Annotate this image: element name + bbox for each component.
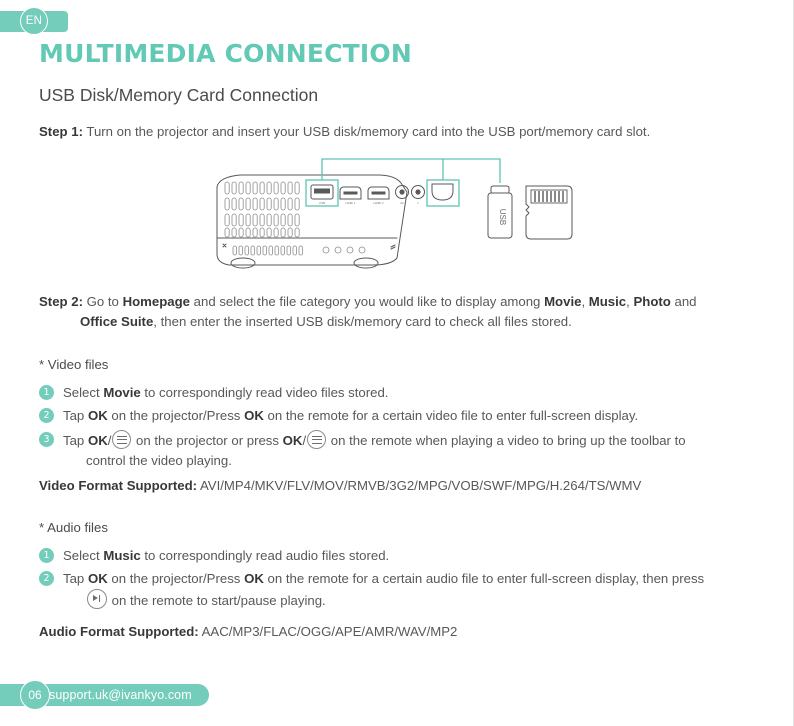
- step-2-text-c: and: [671, 294, 697, 309]
- list-number-badge: 2: [39, 571, 54, 586]
- svg-text:USB: USB: [319, 201, 325, 205]
- menu-icon: [112, 430, 131, 449]
- item-bold-term: Movie: [103, 385, 140, 400]
- item-bold-term: OK: [88, 571, 108, 586]
- step-2-text-b: and select the file category you would l…: [190, 294, 544, 309]
- video-format-value: AVI/MP4/MKV/FLV/MOV/RMVB/3G2/MPG/VOB/SWF…: [197, 478, 641, 493]
- item-text-pre: Select: [63, 548, 103, 563]
- usb-stick-label: USB: [498, 209, 507, 225]
- photo-term: Photo: [633, 294, 670, 309]
- item-bold-term: OK: [88, 408, 108, 423]
- audio-format-value: AAC/MP3/FLAC/OGG/APE/AMR/WAV/MP2: [199, 624, 458, 639]
- item-text-pre: Select: [63, 385, 103, 400]
- item-text-mid: on the projector/Press: [108, 571, 244, 586]
- item-text-pre: Tap: [63, 433, 88, 448]
- step-2-text-a: Go to: [83, 294, 123, 309]
- list-item: 2Tap OK on the projector/Press OK on the…: [39, 406, 754, 426]
- item-text-mid: on the projector/Press: [108, 408, 244, 423]
- slash-2: /: [302, 433, 306, 448]
- support-email[interactable]: support.uk@ivankyo.com: [49, 688, 192, 702]
- audio-files-heading: * Audio files: [39, 520, 108, 535]
- item-text-pre: Tap: [63, 408, 88, 423]
- connection-diagram: USB HDMI 1 HDMI 2 AV ♬ USB: [195, 150, 615, 280]
- step-1-paragraph: Step 1: Turn on the projector and insert…: [39, 122, 754, 142]
- item-bold-term-2: OK: [244, 571, 264, 586]
- menu-icon: [307, 430, 326, 449]
- item-text-pre: Tap: [63, 571, 88, 586]
- item-text-post: on the remote for a certain video file t…: [264, 408, 638, 423]
- item-text-post: on the remote when playing a video to br…: [327, 433, 686, 448]
- list-number-badge: 2: [39, 408, 54, 423]
- music-term: Music: [589, 294, 626, 309]
- movie-term: Movie: [544, 294, 581, 309]
- item-bold-term-2: OK: [283, 433, 303, 448]
- svg-text:♬: ♬: [417, 201, 420, 205]
- video-format-line: Video Format Supported: AVI/MP4/MKV/FLV/…: [39, 478, 641, 493]
- list-item: 1Select Movie to correspondingly read vi…: [39, 383, 754, 403]
- video-format-label: Video Format Supported:: [39, 478, 197, 493]
- step-2-text-d: , then enter the inserted USB disk/memor…: [153, 314, 572, 329]
- list-item: 2Tap OK on the projector/Press OK on the…: [39, 569, 754, 611]
- language-badge-label: EN: [26, 15, 43, 27]
- item-text-post: on the remote for a certain audio file t…: [264, 571, 704, 586]
- item-bold-term-2: OK: [244, 408, 264, 423]
- list-item: 3Tap OK/ on the projector or press OK/ o…: [39, 430, 754, 471]
- list-number-badge: 1: [39, 548, 54, 563]
- homepage-term: Homepage: [123, 294, 190, 309]
- step-1-text: Turn on the projector and insert your US…: [83, 124, 650, 139]
- item-text-mid: on the projector or press: [132, 433, 282, 448]
- step-2-line-2: Office Suite, then enter the inserted US…: [39, 312, 754, 332]
- item-continuation: control the video playing.: [63, 451, 754, 471]
- step-2-label: Step 2:: [39, 294, 83, 309]
- list-item: 1Select Music to correspondingly read au…: [39, 546, 754, 566]
- step-1-label: Step 1:: [39, 124, 83, 139]
- page-title: MULTIMEDIA CONNECTION: [39, 39, 412, 68]
- language-badge: EN: [20, 7, 48, 35]
- slash-1: /: [108, 433, 112, 448]
- item-continuation-text: on the remote to start/pause playing.: [108, 593, 326, 608]
- video-files-heading: * Video files: [39, 357, 108, 372]
- play-pause-icon: [87, 589, 107, 609]
- usb-connector-line: [322, 159, 500, 183]
- manual-page: EN MULTIMEDIA CONNECTION USB Disk/Memory…: [0, 0, 794, 726]
- page-subtitle: USB Disk/Memory Card Connection: [39, 85, 318, 106]
- item-continuation: on the remote to start/pause playing.: [63, 589, 754, 611]
- svg-text:HDMI 2: HDMI 2: [373, 201, 383, 205]
- item-text-post: to correspondingly read audio files stor…: [141, 548, 390, 563]
- audio-format-line: Audio Format Supported: AAC/MP3/FLAC/OGG…: [39, 624, 457, 639]
- sep-1: ,: [581, 294, 588, 309]
- list-number-badge: 3: [39, 432, 54, 447]
- item-text-post: to correspondingly read video files stor…: [141, 385, 389, 400]
- audio-format-label: Audio Format Supported:: [39, 624, 199, 639]
- step-2-paragraph: Step 2: Go to Homepage and select the fi…: [39, 292, 754, 332]
- svg-text:HDMI 1: HDMI 1: [345, 201, 355, 205]
- projector-diagram-svg: USB HDMI 1 HDMI 2 AV ♬ USB: [195, 150, 615, 280]
- page-number: 06: [28, 688, 41, 702]
- item-bold-term: OK: [88, 433, 108, 448]
- list-number-badge: 1: [39, 385, 54, 400]
- office-suite-term: Office Suite: [80, 314, 153, 329]
- page-number-badge: 06: [20, 680, 50, 710]
- item-bold-term: Music: [103, 548, 140, 563]
- svg-text:AV: AV: [400, 201, 404, 205]
